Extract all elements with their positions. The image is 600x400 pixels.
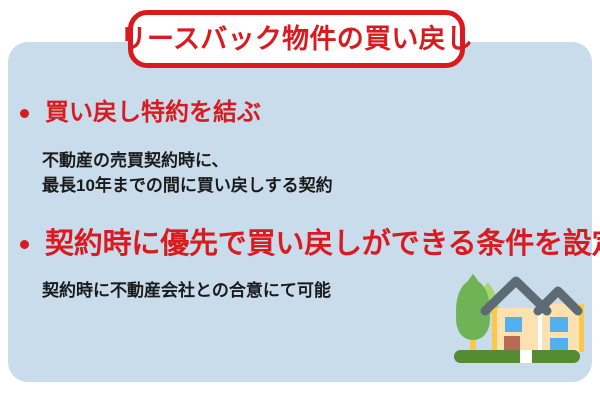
title-badge: リースバック物件の買い戻し xyxy=(128,10,465,68)
house-illustration-icon xyxy=(452,262,584,370)
bullet-body-1: 不動産の売買契約時に、 最長10年までの間に買い戻しする契約 xyxy=(42,148,333,198)
bullet-dot-icon xyxy=(20,240,29,249)
bullet-item-2: 契約時に優先で買い戻しができる条件を設定 xyxy=(20,230,600,259)
bullet-dot-icon xyxy=(20,109,29,118)
bullet-body-2: 契約時に不動産会社との合意にて可能 xyxy=(42,278,331,303)
slide-canvas: リースバック物件の買い戻し 買い戻し特約を結ぶ 不動産の売買契約時に、 最長10… xyxy=(0,0,600,400)
bullet-heading-1: 買い戻し特約を結ぶ xyxy=(45,101,261,125)
bullet-heading-2: 契約時に優先で買い戻しができる条件を設定 xyxy=(45,230,600,259)
bullet-item-1: 買い戻し特約を結ぶ xyxy=(20,101,261,125)
page-title: リースバック物件の買い戻し xyxy=(120,26,474,53)
